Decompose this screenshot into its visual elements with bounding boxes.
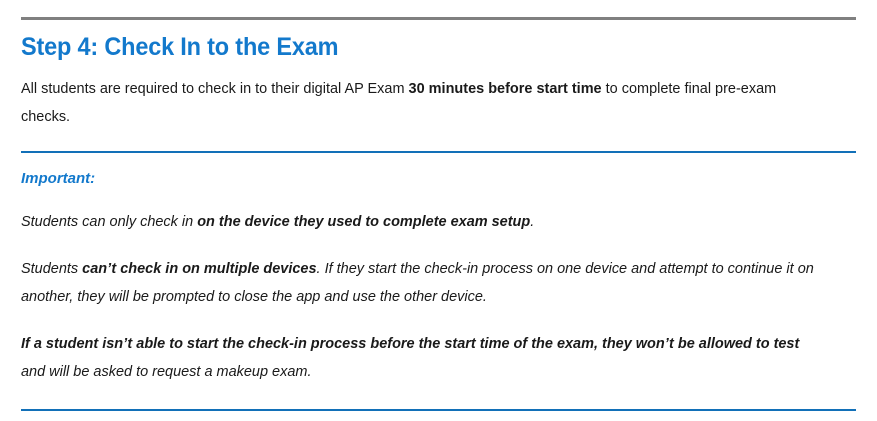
- callout-top-divider-rule: [21, 151, 856, 153]
- important-label: Important:: [21, 169, 856, 189]
- bottom-divider-rule: [21, 409, 856, 411]
- page-title: Step 4: Check In to the Exam: [21, 32, 806, 62]
- intro-paragraph: All students are required to check in to…: [21, 75, 822, 131]
- note-1-text-part-2: .: [530, 213, 534, 230]
- note-2-text-part-1: Students: [21, 260, 82, 277]
- note-multiple-devices: Students can’t check in on multiple devi…: [21, 255, 820, 311]
- note-2-emphasis: can’t check in on multiple devices: [82, 260, 316, 277]
- note-single-device: Students can only check in on the device…: [21, 208, 820, 236]
- intro-text-part-1: All students are required to check in to…: [21, 80, 409, 97]
- note-1-emphasis: on the device they used to complete exam…: [197, 213, 530, 230]
- note-3-emphasis: If a student isn’t able to start the che…: [21, 335, 799, 352]
- intro-emphasis-start-time: 30 minutes before start time: [409, 80, 602, 97]
- note-3-text-part-2: and will be asked to request a makeup ex…: [21, 363, 311, 380]
- document-page: Step 4: Check In to the Exam All student…: [0, 17, 877, 421]
- top-divider-rule: [21, 17, 856, 20]
- note-1-text-part-1: Students can only check in: [21, 213, 197, 230]
- note-late-checkin: If a student isn’t able to start the che…: [21, 330, 820, 386]
